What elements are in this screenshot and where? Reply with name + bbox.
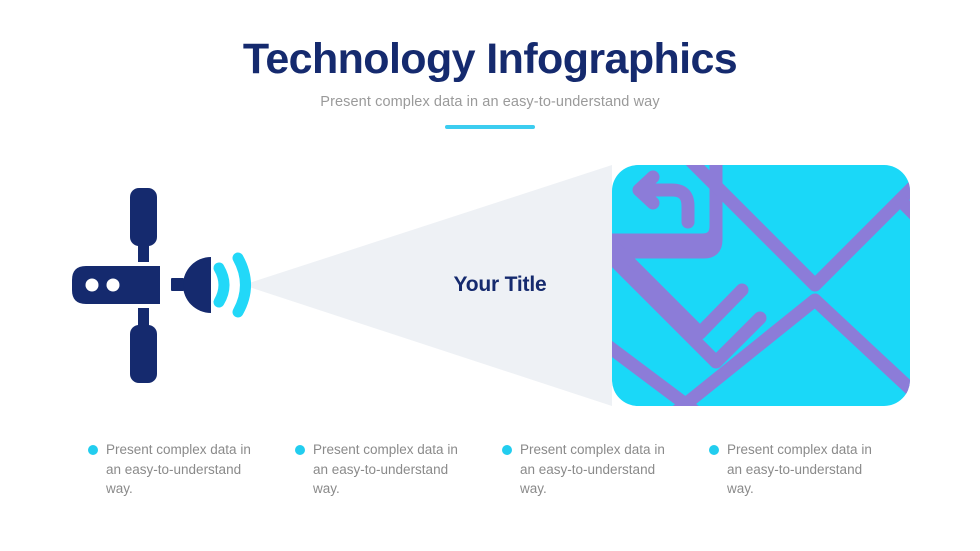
signal-waves-icon [219,258,246,312]
bullet-text: Present complex data in an easy-to-under… [106,440,258,499]
bullet-dot-icon [88,445,98,455]
page-title: Technology Infographics [0,36,980,82]
accent-divider [445,125,535,129]
page-subtitle: Present complex data in an easy-to-under… [0,94,980,110]
bullet-text: Present complex data in an easy-to-under… [727,440,879,499]
bullet-dot-icon [502,445,512,455]
map-roads-panel [600,158,935,415]
bullet-dot-icon [295,445,305,455]
signal-wave-inner [219,268,224,302]
bullet-text: Present complex data in an easy-to-under… [313,440,465,499]
satellite-icon [72,188,211,383]
bullet-dot-icon [709,445,719,455]
list-item[interactable]: Present complex data in an easy-to-under… [709,440,916,499]
satellite-window-2 [107,279,120,292]
solar-panel-bottom [130,325,157,383]
signal-wave-outer [238,258,246,312]
satellite-window-1 [86,279,99,292]
list-item[interactable]: Present complex data in an easy-to-under… [88,440,295,499]
satellite-connector [171,278,184,291]
solar-panel-top [130,188,157,246]
center-title: Your Title [400,273,600,297]
main-graphic: Your Title [0,140,980,430]
header: Technology Infographics Present complex … [0,36,980,129]
slide-canvas: Technology Infographics Present complex … [0,0,980,551]
bullet-list: Present complex data in an easy-to-under… [88,440,948,499]
bullet-text: Present complex data in an easy-to-under… [520,440,672,499]
list-item[interactable]: Present complex data in an easy-to-under… [502,440,709,499]
satellite-dish [183,257,211,313]
list-item[interactable]: Present complex data in an easy-to-under… [295,440,502,499]
